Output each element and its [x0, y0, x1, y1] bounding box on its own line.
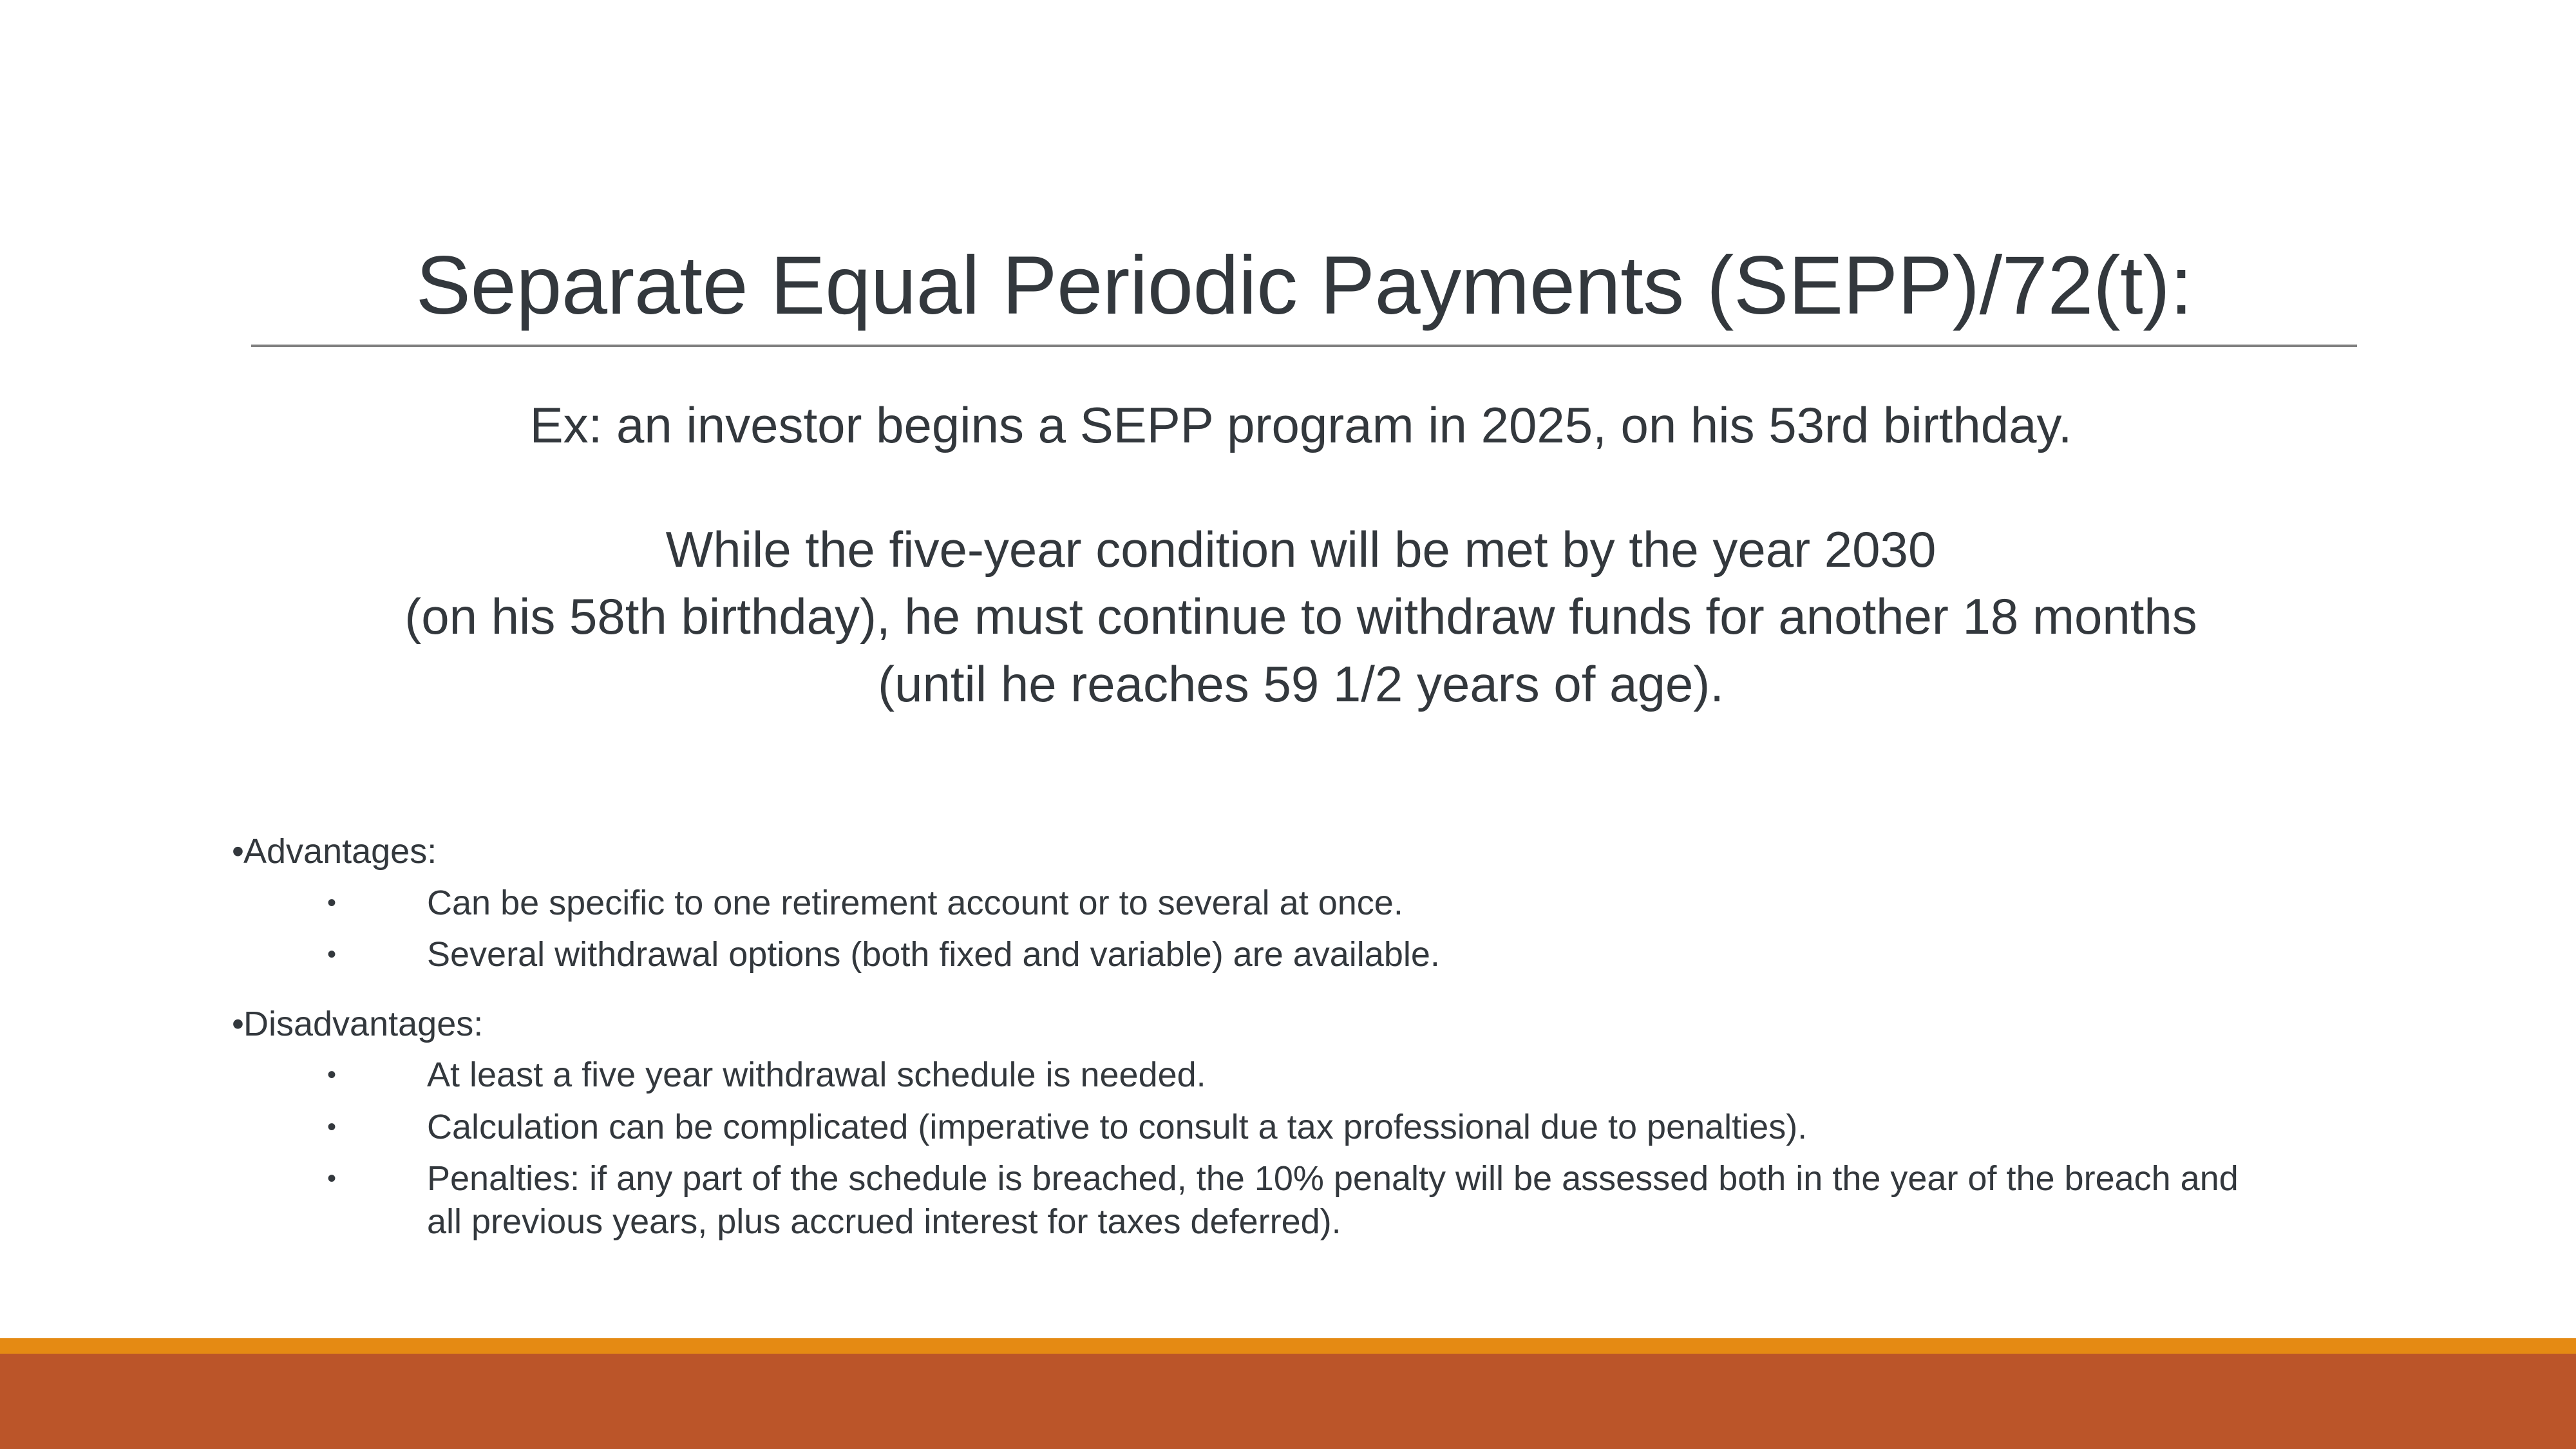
title-divider [251, 345, 2357, 347]
bullet-heading-advantages: • Advantages: [232, 831, 2421, 873]
list-item: • At least a five year withdrawal schedu… [232, 1054, 2421, 1096]
bullet-sections: • Advantages: • Can be specific to one r… [232, 831, 2421, 1243]
intro-spacer [193, 459, 2409, 516]
bullet-dot-icon: • [327, 933, 427, 976]
intro-line-age: (until he reaches 59 1/2 years of age). [193, 650, 2409, 718]
footer-accent-bar-terracotta [0, 1354, 2576, 1449]
list-item: • Can be specific to one retirement acco… [232, 882, 2421, 924]
list-item: • Several withdrawal options (both fixed… [232, 933, 2421, 976]
list-item: • Calculation can be complicated (impera… [232, 1106, 2421, 1148]
page-title: Separate Equal Periodic Payments (SEPP)/… [251, 237, 2357, 334]
intro-text-block: Ex: an investor begins a SEPP program in… [193, 392, 2409, 717]
title-block: Separate Equal Periodic Payments (SEPP)/… [251, 237, 2357, 347]
bullet-dot-icon: • [232, 831, 243, 873]
bullet-heading-label: Advantages: [243, 831, 2421, 873]
bullet-group-advantages: • Advantages: • Can be specific to one r… [232, 831, 2421, 976]
sub-bullet-list-disadvantages: • At least a five year withdrawal schedu… [232, 1054, 2421, 1243]
bullet-dot-icon: • [327, 1106, 427, 1148]
slide-canvas: Separate Equal Periodic Payments (SEPP)/… [0, 0, 2576, 1449]
bullet-heading-label: Disadvantages: [243, 1003, 2421, 1045]
sub-bullet-list-advantages: • Can be specific to one retirement acco… [232, 882, 2421, 976]
bullet-group-disadvantages: • Disadvantages: • At least a five year … [232, 1003, 2421, 1243]
bullet-dot-icon: • [327, 1054, 427, 1096]
list-item-label: Several withdrawal options (both fixed a… [427, 933, 2269, 976]
intro-line-five-year: While the five-year condition will be me… [193, 516, 2409, 583]
bullet-dot-icon: • [232, 1003, 243, 1045]
list-item: • Penalties: if any part of the schedule… [232, 1157, 2421, 1243]
intro-line-example: Ex: an investor begins a SEPP program in… [193, 392, 2409, 459]
bullet-dot-icon: • [327, 1157, 427, 1200]
footer-accent-bar-orange [0, 1338, 2576, 1354]
list-item-label: Can be specific to one retirement accoun… [427, 882, 2269, 924]
bullet-heading-disadvantages: • Disadvantages: [232, 1003, 2421, 1045]
list-item-label: Penalties: if any part of the schedule i… [427, 1157, 2269, 1243]
intro-line-eighteen-months: (on his 58th birthday), he must continue… [193, 583, 2409, 650]
bullet-dot-icon: • [327, 882, 427, 924]
list-item-label: Calculation can be complicated (imperati… [427, 1106, 2269, 1148]
list-item-label: At least a five year withdrawal schedule… [427, 1054, 2269, 1096]
